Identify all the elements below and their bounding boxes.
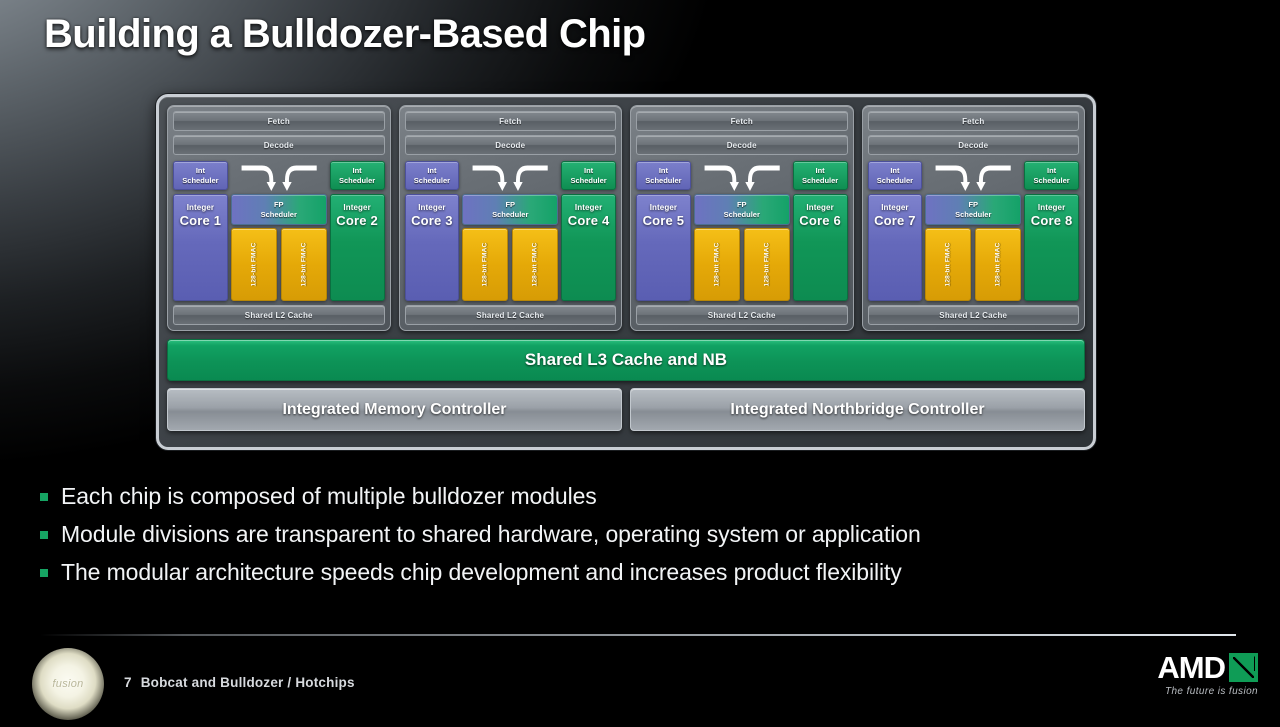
fetch-unit: Fetch <box>636 111 848 131</box>
fp-unit-column: FPScheduler128-bit FMAC128-bit FMAC <box>925 161 1021 301</box>
fusion-logo: fusion <box>32 648 104 720</box>
amd-tagline: The future is fusion <box>1157 686 1258 697</box>
module-core-area: IntSchedulerIntegerCore 3FPScheduler128-… <box>405 161 617 301</box>
decode-unit: Decode <box>868 135 1080 155</box>
fetch-unit: Fetch <box>868 111 1080 131</box>
left-core-column: IntSchedulerIntegerCore 1 <box>173 161 228 301</box>
bullet-item: Module divisions are transparent to shar… <box>40 521 1240 548</box>
decode-unit: Decode <box>173 135 385 155</box>
fp-unit-column: FPScheduler128-bit FMAC128-bit FMAC <box>462 161 558 301</box>
fmac-unit: 128-bit FMAC <box>694 228 740 301</box>
bullet-list: Each chip is composed of multiple bulldo… <box>40 483 1240 597</box>
fp-unit-column: FPScheduler128-bit FMAC128-bit FMAC <box>231 161 327 301</box>
integer-core-left: IntegerCore 7 <box>868 194 923 301</box>
footer-label: Bobcat and Bulldozer / Hotchips <box>141 675 355 690</box>
page-title: Building a Bulldozer-Based Chip <box>44 12 645 57</box>
bullet-item: The modular architecture speeds chip dev… <box>40 559 1240 586</box>
fmac-unit: 128-bit FMAC <box>512 228 558 301</box>
shared-l3-cache-bar: Shared L3 Cache and NB <box>167 339 1085 381</box>
slide-canvas: Building a Bulldozer-Based Chip FetchDec… <box>0 0 1280 727</box>
chip-diagram: FetchDecodeIntSchedulerIntegerCore 1FPSc… <box>156 94 1096 450</box>
integer-core-left: IntegerCore 1 <box>173 194 228 301</box>
int-scheduler-left: IntScheduler <box>405 161 460 190</box>
int-scheduler-left: IntScheduler <box>173 161 228 190</box>
int-scheduler-right: IntScheduler <box>1024 161 1079 190</box>
integer-core-right: IntegerCore 4 <box>561 194 616 301</box>
right-core-column: IntSchedulerIntegerCore 4 <box>561 161 616 301</box>
fp-scheduler: FPScheduler <box>462 194 558 225</box>
bullet-text: Module divisions are transparent to shar… <box>61 521 921 548</box>
footer-divider <box>40 634 1236 636</box>
amd-arrow-icon <box>1229 653 1258 682</box>
fmac-row: 128-bit FMAC128-bit FMAC <box>462 228 558 301</box>
int-scheduler-left: IntScheduler <box>636 161 691 190</box>
bullet-marker-icon <box>40 531 48 539</box>
fmac-row: 128-bit FMAC128-bit FMAC <box>231 228 327 301</box>
left-core-column: IntSchedulerIntegerCore 7 <box>868 161 923 301</box>
integer-core-left: IntegerCore 5 <box>636 194 691 301</box>
module-core-area: IntSchedulerIntegerCore 1FPScheduler128-… <box>173 161 385 301</box>
fetch-unit: Fetch <box>405 111 617 131</box>
decode-unit: Decode <box>405 135 617 155</box>
shared-l2-cache: Shared L2 Cache <box>405 305 617 325</box>
left-core-column: IntSchedulerIntegerCore 3 <box>405 161 460 301</box>
right-core-column: IntSchedulerIntegerCore 6 <box>793 161 848 301</box>
fetch-unit: Fetch <box>173 111 385 131</box>
controllers-row: Integrated Memory Controller Integrated … <box>167 388 1085 431</box>
bullet-marker-icon <box>40 569 48 577</box>
bulldozer-module: FetchDecodeIntSchedulerIntegerCore 5FPSc… <box>630 105 854 331</box>
bullet-text: Each chip is composed of multiple bulldo… <box>61 483 597 510</box>
amd-logo-row: AMD <box>1157 652 1258 683</box>
fp-scheduler: FPScheduler <box>694 194 790 225</box>
int-scheduler-right: IntScheduler <box>793 161 848 190</box>
fmac-unit: 128-bit FMAC <box>462 228 508 301</box>
shared-l2-cache: Shared L2 Cache <box>636 305 848 325</box>
fp-scheduler: FPScheduler <box>925 194 1021 225</box>
fmac-unit: 128-bit FMAC <box>744 228 790 301</box>
shared-l2-cache: Shared L2 Cache <box>868 305 1080 325</box>
right-core-column: IntSchedulerIntegerCore 8 <box>1024 161 1079 301</box>
bulldozer-module: FetchDecodeIntSchedulerIntegerCore 3FPSc… <box>399 105 623 331</box>
bulldozer-modules-row: FetchDecodeIntSchedulerIntegerCore 1FPSc… <box>167 105 1085 331</box>
fmac-unit: 128-bit FMAC <box>925 228 971 301</box>
bullet-item: Each chip is composed of multiple bulldo… <box>40 483 1240 510</box>
fmac-unit: 128-bit FMAC <box>975 228 1021 301</box>
integer-core-right: IntegerCore 8 <box>1024 194 1079 301</box>
fmac-row: 128-bit FMAC128-bit FMAC <box>694 228 790 301</box>
module-core-area: IntSchedulerIntegerCore 5FPScheduler128-… <box>636 161 848 301</box>
bulldozer-module: FetchDecodeIntSchedulerIntegerCore 1FPSc… <box>167 105 391 331</box>
right-core-column: IntSchedulerIntegerCore 2 <box>330 161 385 301</box>
integer-core-left: IntegerCore 3 <box>405 194 460 301</box>
integrated-northbridge-controller: Integrated Northbridge Controller <box>630 388 1085 431</box>
fusion-logo-label: fusion <box>52 678 83 690</box>
int-scheduler-right: IntScheduler <box>561 161 616 190</box>
shared-l2-cache: Shared L2 Cache <box>173 305 385 325</box>
int-scheduler-left: IntScheduler <box>868 161 923 190</box>
decode-unit: Decode <box>636 135 848 155</box>
fmac-unit: 128-bit FMAC <box>231 228 277 301</box>
fmac-row: 128-bit FMAC128-bit FMAC <box>925 228 1021 301</box>
bullet-text: The modular architecture speeds chip dev… <box>61 559 902 586</box>
bullet-marker-icon <box>40 493 48 501</box>
int-scheduler-right: IntScheduler <box>330 161 385 190</box>
amd-wordmark: AMD <box>1157 652 1225 683</box>
fp-unit-column: FPScheduler128-bit FMAC128-bit FMAC <box>694 161 790 301</box>
integrated-memory-controller: Integrated Memory Controller <box>167 388 622 431</box>
module-core-area: IntSchedulerIntegerCore 7FPScheduler128-… <box>868 161 1080 301</box>
page-number: 7 <box>124 675 132 690</box>
fmac-unit: 128-bit FMAC <box>281 228 327 301</box>
amd-logo: AMD The future is fusion <box>1157 652 1258 697</box>
footer-caption: 7Bobcat and Bulldozer / Hotchips <box>124 675 355 690</box>
fp-scheduler: FPScheduler <box>231 194 327 225</box>
bulldozer-module: FetchDecodeIntSchedulerIntegerCore 7FPSc… <box>862 105 1086 331</box>
left-core-column: IntSchedulerIntegerCore 5 <box>636 161 691 301</box>
integer-core-right: IntegerCore 2 <box>330 194 385 301</box>
integer-core-right: IntegerCore 6 <box>793 194 848 301</box>
